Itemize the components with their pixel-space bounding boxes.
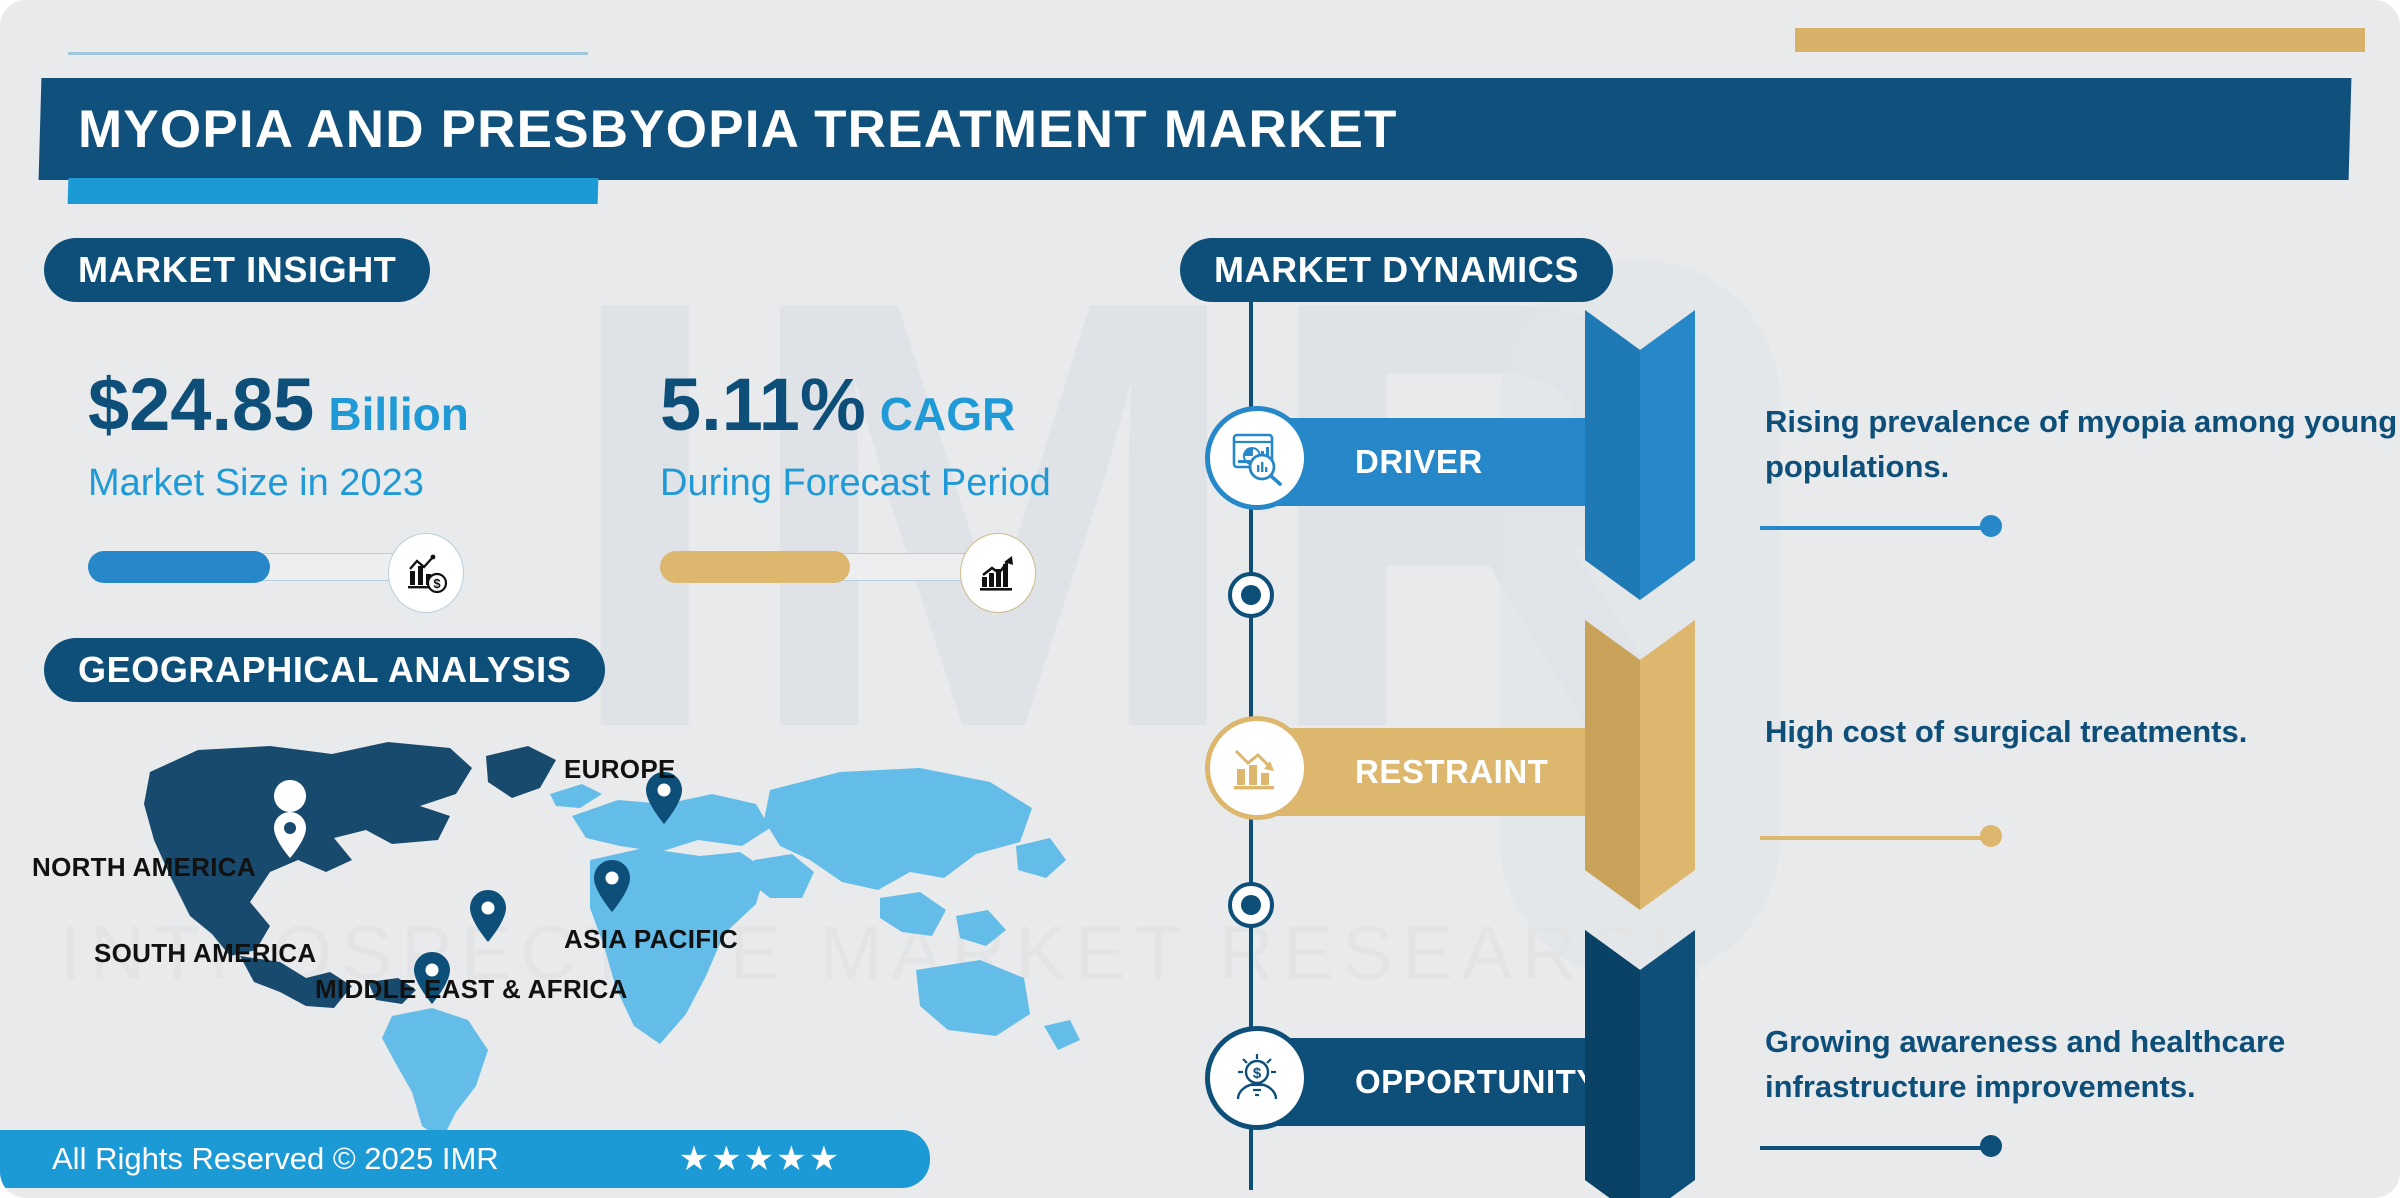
svg-text:$: $ <box>1253 1065 1262 1082</box>
map-label-europe: EUROPE <box>564 754 676 785</box>
market-insight-heading: MARKET INSIGHT <box>44 238 430 302</box>
bar-chart-dollar-icon: $ <box>388 533 464 613</box>
declining-bar-chart-icon <box>1205 716 1309 820</box>
restraint-description: High cost of surgical treatments. <box>1765 710 2400 755</box>
map-region-south-america <box>382 1008 488 1140</box>
map-region-asia <box>764 768 1066 946</box>
world-map: NORTH AMERICA SOUTH AMERICA EUROPE ASIA … <box>120 720 1120 1140</box>
market-size-value: $24.85 <box>88 368 314 442</box>
market-size-caption: Market Size in 2023 <box>88 462 478 505</box>
kpi-value-row: $24.85Billion <box>88 368 478 442</box>
lightbulb-dollar-icon: $ <box>1205 1026 1309 1130</box>
cagr-progress <box>660 537 1050 595</box>
geographical-analysis-heading: GEOGRAPHICAL ANALYSIS <box>44 638 605 702</box>
driver-connector-dot <box>1980 515 2002 537</box>
infographic-root: IMR INTROSPECTIVE MARKET RESEARCH MYOPIA… <box>0 0 2400 1198</box>
map-label-north-america: NORTH AMERICA <box>32 852 256 883</box>
top-gold-bar <box>1795 28 2365 52</box>
map-label-asia-pacific: ASIA PACIFIC <box>564 924 738 955</box>
map-pin-middle-east-africa <box>470 890 506 942</box>
market-size-progress: $ <box>88 537 478 595</box>
footer-bar: All Rights Reserved © 2025 IMR ★★★★★ <box>0 1130 930 1188</box>
map-label-middle-east-africa: MIDDLE EAST & AFRICA <box>315 974 628 1005</box>
cagr-unit: CAGR <box>880 387 1015 441</box>
restraint-connector <box>1760 836 1990 840</box>
top-thin-rule <box>68 52 588 55</box>
growth-chart-arrow-icon <box>960 533 1036 613</box>
page-title: MYOPIA AND PRESBYOPIA TREATMENT MARKET <box>78 88 2278 172</box>
cagr-value: 5.11% <box>660 368 866 442</box>
kpi-value-row: 5.11%CAGR <box>660 368 1051 442</box>
opportunity-connector-dot <box>1980 1135 2002 1157</box>
cagr-caption: During Forecast Period <box>660 462 1051 505</box>
kpi-market-size: $24.85Billion Market Size in 2023 $ <box>88 368 478 595</box>
timeline-node <box>1228 882 1274 928</box>
opportunity-chevron <box>1585 930 1695 1198</box>
opportunity-connector <box>1760 1146 1990 1150</box>
progress-fill <box>88 551 270 583</box>
driver-description: Rising prevalence of myopia among young … <box>1765 400 2400 490</box>
rating-stars: ★★★★★ <box>679 1139 841 1179</box>
market-size-unit: Billion <box>328 387 469 441</box>
map-region-oceania <box>916 960 1080 1050</box>
map-label-south-america: SOUTH AMERICA <box>94 938 317 969</box>
timeline-node <box>1228 572 1274 618</box>
kpi-cagr: 5.11%CAGR During Forecast Period <box>660 368 1051 595</box>
driver-chevron <box>1585 310 1695 600</box>
opportunity-description: Growing awareness and healthcare infrast… <box>1765 1020 2400 1110</box>
market-dynamics-heading: MARKET DYNAMICS <box>1180 238 1613 302</box>
svg-text:$: $ <box>433 576 441 591</box>
title-accent-bar <box>68 178 599 204</box>
progress-fill <box>660 551 850 583</box>
restraint-connector-dot <box>1980 825 2002 847</box>
copyright-text: All Rights Reserved © 2025 IMR <box>52 1141 499 1177</box>
restraint-chevron <box>1585 620 1695 910</box>
report-magnifier-icon <box>1205 406 1309 510</box>
driver-connector <box>1760 526 1990 530</box>
